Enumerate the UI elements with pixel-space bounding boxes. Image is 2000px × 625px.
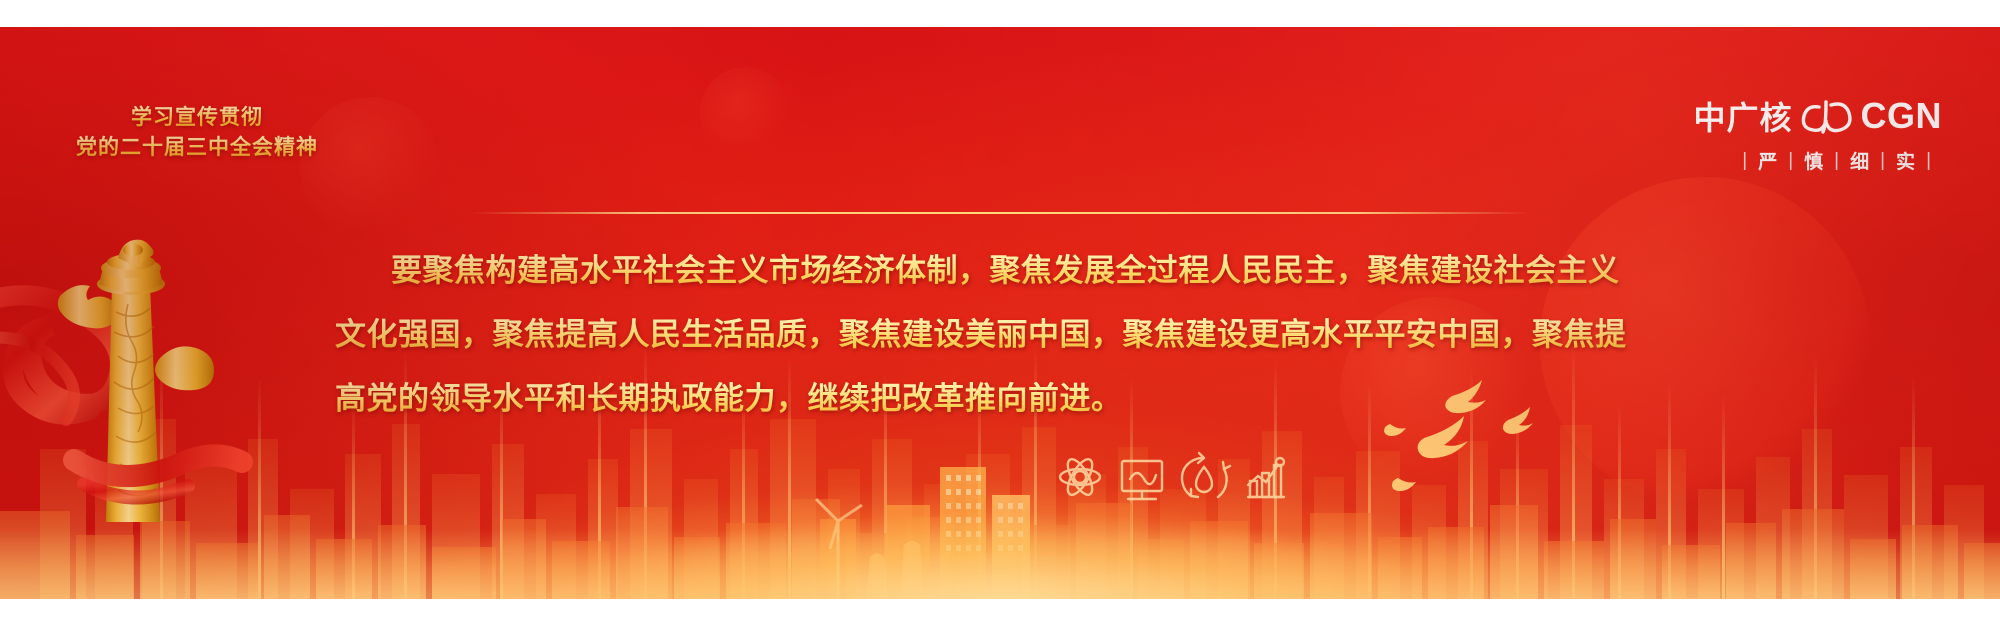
body-line-2: 文化强国，聚焦提高人民生活品质，聚焦建设美丽中国，聚焦建设更高水平平安中国，聚焦… [335,307,1665,362]
logo-tagline: | 严 | 慎 | 细 | 实 | [1602,147,1942,174]
recycle-droplet-icon [1182,453,1230,497]
tagline-separator-0: | [1731,150,1758,172]
logo-row: 中广核 CGN [1602,93,1942,139]
body-text: 要聚焦构建高水平社会主义市场经济体制，聚焦发展全过程人民民主，聚焦建设社会主义 … [335,243,1665,435]
theme-icons-row [1052,441,1292,511]
gold-divider [470,212,1530,214]
body-line-3: 高党的领导水平和长期执政能力，继续把改革推向前进。 [335,371,1665,426]
tagline-separator-2: | [1823,150,1850,172]
propaganda-banner: 学习宣传贯彻 党的二十届三中全会精神 七个聚焦 要聚焦构建高水平社会主义市场经济… [0,0,2000,625]
logo-english-name: CGN [1861,95,1943,137]
monitor-icon [1122,461,1162,499]
bar-chart-growth-icon [1248,458,1284,497]
cgn-logo: 中广核 CGN | 严 | 慎 | 细 [1602,93,1942,174]
atom-icon [1060,456,1100,499]
bottom-white-band [0,599,2000,625]
tagline-separator-3: | [1869,150,1896,172]
tagline-word-3: 实 [1896,147,1915,174]
tagline-separator-4: | [1915,150,1942,172]
title-text: 七个聚焦 [880,123,1120,202]
tagline-word-2: 细 [1850,147,1869,174]
logo-chinese-name: 中广核 [1693,93,1792,139]
body-line-1: 要聚焦构建高水平社会主义市场经济体制，聚焦发展全过程人民民主，聚焦建设社会主义 [335,243,1665,298]
cgn-swoosh-icon [1799,96,1855,136]
tagline-separator-1: | [1777,150,1804,172]
tagline-word-0: 严 [1758,147,1777,174]
top-white-band [0,0,2000,27]
tagline-word-1: 慎 [1804,147,1823,174]
huabiao-column [0,192,260,522]
banner-stage: 学习宣传贯彻 党的二十届三中全会精神 七个聚焦 要聚焦构建高水平社会主义市场经济… [0,27,2000,599]
